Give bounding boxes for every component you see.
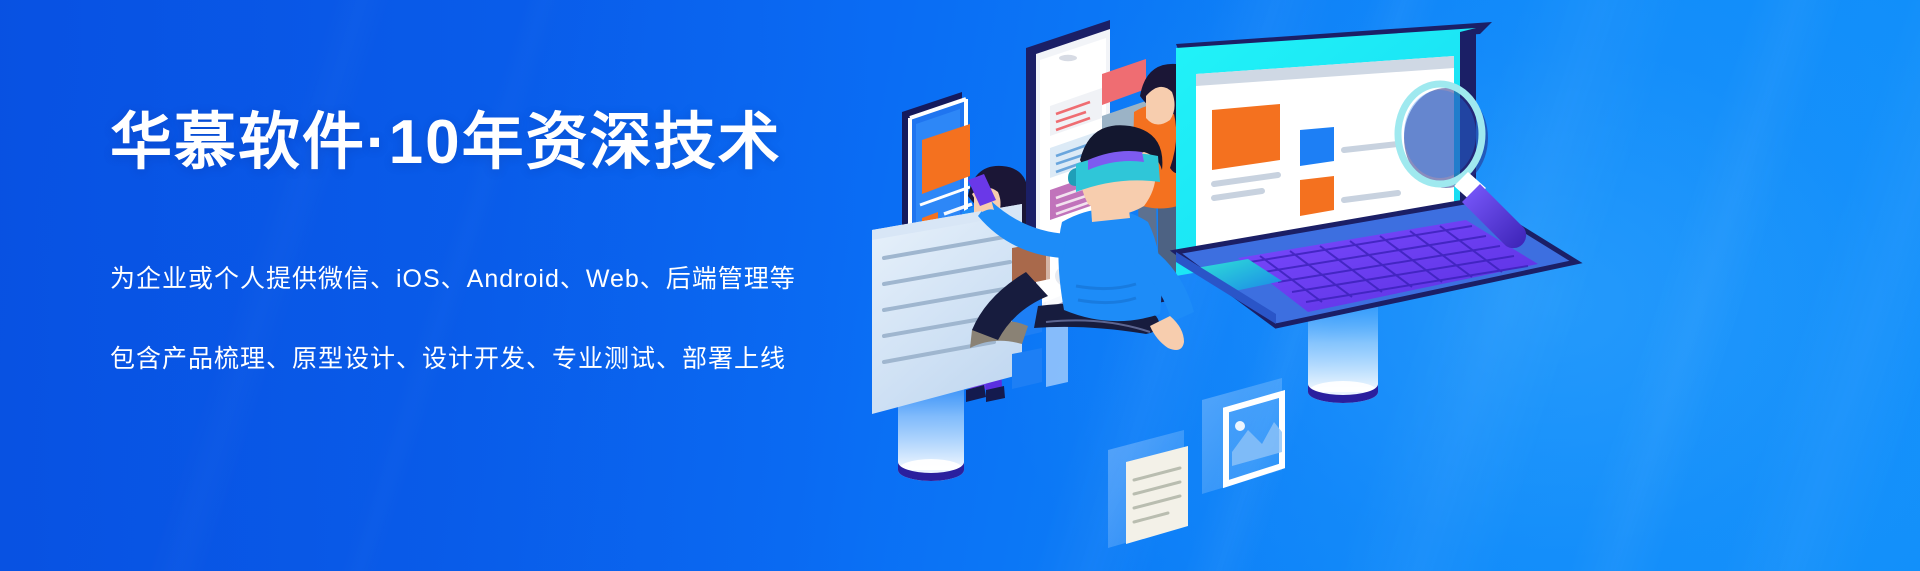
hero-banner: 华慕软件·10年资深技术 为企业或个人提供微信、iOS、Android、Web、… xyxy=(0,0,1920,571)
banner-headline: 华慕软件·10年资深技术 xyxy=(110,108,930,177)
banner-copy: 华慕软件·10年资深技术 为企业或个人提供微信、iOS、Android、Web、… xyxy=(110,108,930,375)
banner-subline-1: 为企业或个人提供微信、iOS、Android、Web、后端管理等 xyxy=(110,259,930,295)
banner-subline-2: 包含产品梳理、原型设计、设计开发、专业测试、部署上线 xyxy=(110,339,930,375)
hero-illustration xyxy=(840,0,1920,571)
laptop-right xyxy=(1176,22,1576,326)
image-card xyxy=(1202,378,1282,494)
document-card xyxy=(1108,430,1188,548)
